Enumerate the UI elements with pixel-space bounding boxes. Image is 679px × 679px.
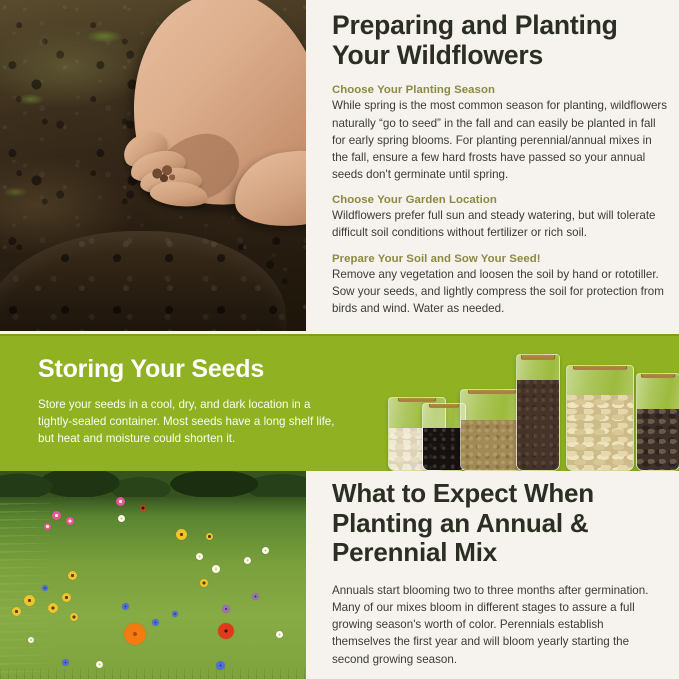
cork-lid-icon [573, 365, 627, 370]
wildflower-meadow-photo [0, 471, 306, 679]
jar-contents [517, 380, 559, 470]
flower-icon [118, 515, 125, 522]
flower-icon [196, 553, 203, 560]
flower-icon [152, 619, 159, 626]
storing-paragraph: Store your seeds in a cool, dry, and dar… [38, 396, 338, 448]
flower-icon [262, 547, 269, 554]
flower-icon [68, 571, 77, 580]
flower-icon [200, 579, 208, 587]
flower-icon [12, 607, 21, 616]
planting-text-panel: Preparing and Planting Your Wildflowers … [332, 10, 668, 317]
section-preparing-and-planting: Preparing and Planting Your Wildflowers … [0, 0, 679, 334]
expect-paragraph: Annuals start blooming two to three mont… [332, 582, 652, 668]
flower-icon [252, 593, 259, 600]
jar-contents [567, 395, 633, 470]
cork-lid-icon [521, 354, 555, 360]
flower-icon [42, 585, 48, 591]
cork-lid-icon [641, 373, 675, 378]
seeds-icon [146, 159, 182, 190]
flower-icon [244, 557, 251, 564]
section-storing-your-seeds: Storing Your Seeds Store your seeds in a… [0, 334, 679, 471]
flower-icon [276, 631, 283, 638]
jar-icon [460, 389, 524, 471]
flower-icon [216, 661, 225, 670]
section-what-to-expect: What to Expect When Planting an Annual &… [0, 471, 679, 679]
flower-icon [222, 605, 230, 613]
storing-text-panel: Storing Your Seeds Store your seeds in a… [38, 356, 338, 448]
flower-icon [28, 637, 34, 643]
expect-heading: What to Expect When Planting an Annual &… [332, 479, 652, 568]
flower-icon [140, 505, 146, 511]
paragraph-prepare-soil: Remove any vegetation and loosen the soi… [332, 266, 668, 317]
flower-icon [62, 659, 69, 666]
jar-icon [516, 354, 560, 471]
paragraph-planting-season: While spring is the most common season f… [332, 97, 668, 183]
jar-icon [636, 373, 679, 471]
jar-icon [566, 365, 634, 471]
flower-icon [66, 517, 74, 525]
subheading-planting-season: Choose Your Planting Season [332, 84, 668, 96]
flower-icon [218, 623, 234, 639]
soil-planting-photo [0, 0, 306, 331]
jar-contents [423, 428, 465, 470]
subheading-garden-location: Choose Your Garden Location [332, 194, 668, 206]
flower-icon [176, 529, 187, 540]
cork-lid-icon [398, 397, 436, 402]
flower-icon [122, 603, 129, 610]
jar-contents [461, 420, 523, 470]
flower-icon [24, 595, 35, 606]
page-title: Preparing and Planting Your Wildflowers [332, 10, 668, 70]
flower-icon [62, 593, 71, 602]
flower-icon [124, 623, 146, 645]
cork-lid-icon [468, 389, 516, 394]
flower-icon [172, 611, 178, 617]
jar-contents [637, 409, 679, 470]
flower-icon [116, 497, 125, 506]
paragraph-garden-location: Wildflowers prefer full sun and steady w… [332, 207, 668, 241]
flower-icon [206, 533, 213, 540]
flower-icon [44, 523, 51, 530]
flower-icon [212, 565, 220, 573]
expect-text-panel: What to Expect When Planting an Annual &… [332, 479, 652, 668]
storing-heading: Storing Your Seeds [38, 356, 338, 384]
flower-layer [0, 471, 306, 679]
flower-icon [48, 603, 58, 613]
cork-lid-icon [429, 403, 459, 408]
infographic-page: Preparing and Planting Your Wildflowers … [0, 0, 679, 679]
seed-jars-photo [384, 342, 672, 471]
flower-icon [96, 661, 103, 668]
flower-icon [52, 511, 61, 520]
subheading-prepare-soil: Prepare Your Soil and Sow Your Seed! [332, 253, 668, 265]
flower-icon [70, 613, 78, 621]
